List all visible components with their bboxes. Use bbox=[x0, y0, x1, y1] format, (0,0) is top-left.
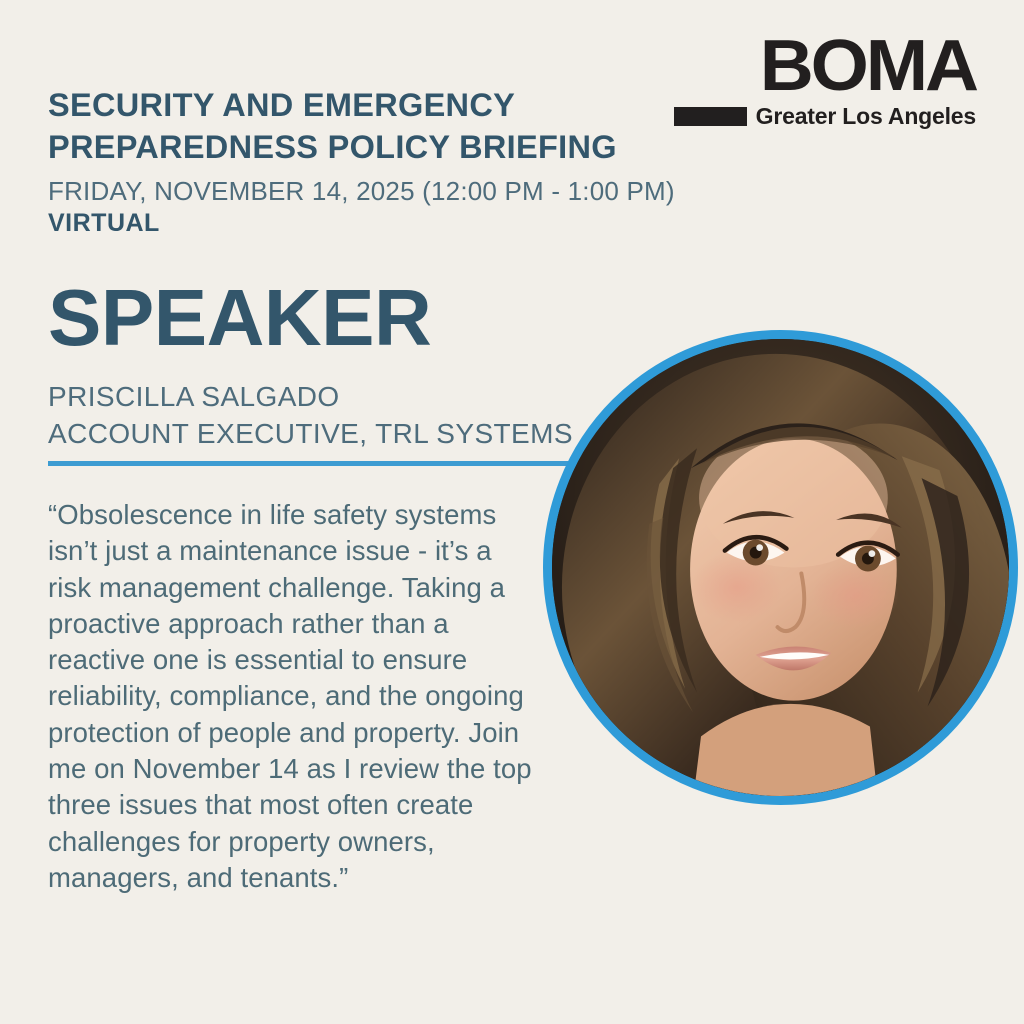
speaker-heading: SPEAKER bbox=[48, 278, 431, 358]
speaker-portrait bbox=[543, 330, 1018, 805]
boma-chapter-tagline: Greater Los Angeles bbox=[756, 103, 976, 130]
speaker-role: ACCOUNT EXECUTIVE, TRL SYSTEMS bbox=[48, 415, 578, 452]
portrait-illustration bbox=[552, 339, 1009, 796]
event-datetime: FRIDAY, NOVEMBER 14, 2025 (12:00 PM - 1:… bbox=[48, 175, 688, 208]
boma-wordmark: BOMA bbox=[697, 38, 976, 96]
event-format-label: VIRTUAL bbox=[48, 209, 688, 238]
boma-logo: BOMA Greater Los Angeles bbox=[708, 38, 976, 130]
event-title-line-2: PREPAREDNESS POLICY BRIEFING bbox=[48, 126, 688, 168]
event-header: SECURITY AND EMERGENCY PREPAREDNESS POLI… bbox=[48, 84, 688, 238]
speaker-name: PRISCILLA SALGADO bbox=[48, 378, 578, 415]
divider-rule bbox=[48, 461, 570, 466]
event-title-line-1: SECURITY AND EMERGENCY bbox=[48, 84, 688, 126]
speaker-quote: “Obsolescence in life safety systems isn… bbox=[48, 497, 540, 896]
boma-logo-subline: Greater Los Angeles bbox=[708, 103, 976, 130]
speaker-details: PRISCILLA SALGADO ACCOUNT EXECUTIVE, TRL… bbox=[48, 378, 578, 452]
